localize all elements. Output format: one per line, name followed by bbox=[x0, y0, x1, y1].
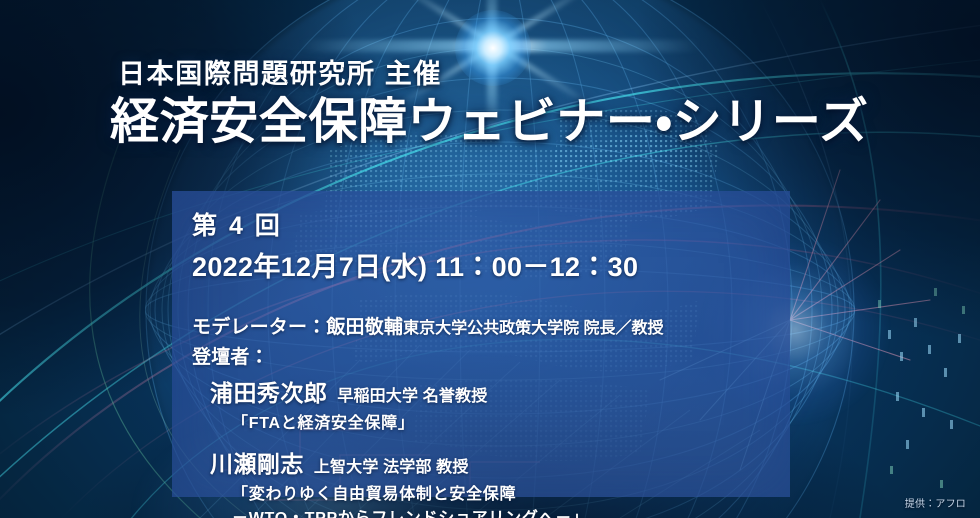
organizer-text: 日本国際問題研究所 主催 bbox=[118, 52, 869, 91]
speaker-affiliation: 早稲田大学 名誉教授 bbox=[337, 388, 487, 405]
moderator-name: モデレーター：飯田敬輔 bbox=[192, 317, 403, 338]
event-info-panel: 第 4 回 2022年12月7日(水) 11：00－12：30 モデレーター：飯… bbox=[172, 191, 790, 497]
poster-header: 日本国際問題研究所 主催 経済安全保障ウェビナー・シリーズ bbox=[118, 52, 869, 151]
moderator-line: モデレーター：飯田敬輔東京大学公共政策大学院 院長／教授 bbox=[192, 312, 790, 339]
speaker-name: 川瀬剛志 bbox=[210, 451, 304, 477]
page-title: 経済安全保障ウェビナー・シリーズ bbox=[110, 95, 869, 151]
webinar-poster: 日本国際問題研究所 主催 経済安全保障ウェビナー・シリーズ 第 4 回 2022… bbox=[0, 0, 980, 518]
speaker-name: 浦田秀次郎 bbox=[210, 380, 327, 406]
event-datetime: 2022年12月7日(水) 11：00－12：30 bbox=[192, 245, 790, 284]
speaker-talk-title-line1: 「変わりゆく自由貿易体制と安全保障 bbox=[210, 483, 790, 507]
speaker-entry: 浦田秀次郎早稲田大学 名誉教授 「FTAと経済安全保障」 bbox=[192, 374, 790, 436]
speaker-affiliation: 上智大学 法学部 教授 bbox=[314, 459, 469, 476]
speaker-talk-title: 「FTAと経済安全保障」 bbox=[210, 412, 790, 436]
speakers-label: 登壇者： bbox=[192, 342, 790, 369]
speaker-heading: 浦田秀次郎早稲田大学 名誉教授 bbox=[210, 374, 790, 408]
speaker-entry: 川瀬剛志上智大学 法学部 教授 「変わりゆく自由貿易体制と安全保障 －WTO・T… bbox=[192, 445, 790, 518]
speaker-talk-title-line2: －WTO・TPPからフレンドショアリングへ－」 bbox=[210, 507, 790, 518]
speaker-heading: 川瀬剛志上智大学 法学部 教授 bbox=[210, 445, 790, 479]
moderator-affiliation: 東京大学公共政策大学院 院長／教授 bbox=[403, 320, 663, 337]
image-credit: 提供：アフロ bbox=[905, 495, 966, 510]
session-number: 第 4 回 bbox=[192, 206, 790, 242]
